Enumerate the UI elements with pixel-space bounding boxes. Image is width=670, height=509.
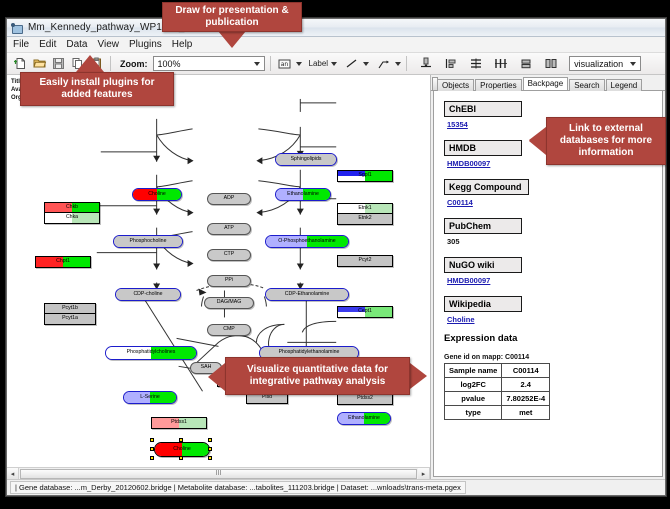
node-chpt1[interactable]: Chpt1 <box>35 256 91 268</box>
table-row: log2FC 2.4 <box>445 378 550 392</box>
node-dag-mag[interactable]: DAG/MAG <box>204 297 254 309</box>
node-sphingolipids[interactable]: Sphingolipids <box>275 153 337 166</box>
chevron-down-icon[interactable] <box>331 62 337 66</box>
table-row: type met <box>445 406 550 420</box>
node-label: CDP-Ethanolamine <box>285 292 329 297</box>
chevron-down-icon[interactable] <box>296 62 302 66</box>
visualization-combobox[interactable]: visualization <box>569 56 641 71</box>
db-header-nugo-wiki: NuGO wiki <box>444 257 522 273</box>
node-pcyt2[interactable]: Pcyt2 <box>337 255 393 267</box>
expr-value: met <box>502 406 550 420</box>
scroll-left-icon[interactable]: ◂ <box>7 468 19 479</box>
tab-properties[interactable]: Properties <box>475 79 521 91</box>
tab-objects[interactable]: Objects <box>437 79 474 91</box>
callout-draw-arrow-icon <box>218 31 246 48</box>
node-pcyt1a[interactable]: Pcyt1a <box>44 314 96 325</box>
db-link-kegg-compound[interactable]: C00114 <box>447 198 662 207</box>
node-label: Etnk1 <box>358 206 371 211</box>
pathvisio-icon <box>11 22 23 34</box>
node-ethanolamine-right[interactable]: Ethanolamine <box>337 412 391 425</box>
callout-visualize-text: Visualize quantitative data for integrat… <box>230 364 405 388</box>
line-icon[interactable] <box>343 55 360 72</box>
window-titlebar: Mm_Kennedy_pathway_WP1771_45176.gpml <box>7 19 665 37</box>
chevron-down-icon[interactable] <box>363 62 369 66</box>
node-adp[interactable]: ADP <box>207 193 251 205</box>
zoom-combobox[interactable]: 100% <box>153 56 265 71</box>
callout-plugins-arrow-icon <box>76 55 104 72</box>
node-label: Pisd <box>262 395 272 400</box>
selection-handle[interactable] <box>179 456 183 460</box>
menu-data[interactable]: Data <box>65 39 88 50</box>
node-label: ADP <box>224 196 235 201</box>
node-label: CMP <box>223 327 235 332</box>
selection-handle[interactable] <box>150 456 154 460</box>
node-label: CDP-choline <box>133 292 162 297</box>
expression-data-table: Sample name C00114 log2FC 2.4 pvalue 7.8… <box>444 363 550 420</box>
node-etnk2[interactable]: Etnk2 <box>337 214 393 225</box>
align-left-icon[interactable] <box>442 55 459 72</box>
db-header-wikipedia: Wikipedia <box>444 296 522 312</box>
callout-link-text: Link to external databases for more info… <box>551 123 661 158</box>
db-header-chebi: ChEBI <box>444 101 522 117</box>
expr-key: Sample name <box>445 364 502 378</box>
callout-link: Link to external databases for more info… <box>546 117 666 165</box>
callout-plugins-text: Easily install plugins for added feature… <box>25 77 169 101</box>
common-height-icon[interactable] <box>542 55 559 72</box>
node-cdp-ethanolamine[interactable]: CDP-Ethanolamine <box>265 288 349 301</box>
scrollbar-thumb[interactable]: III <box>20 469 417 479</box>
node-label: Chkb <box>66 205 78 210</box>
tab-backpage[interactable]: Backpage <box>523 77 569 90</box>
node-label: Sgpl1 <box>358 173 371 178</box>
node-label: Phosphocholine <box>130 239 167 244</box>
statusbar: | Gene database: ...m_Derby_20120602.bri… <box>7 479 665 495</box>
expr-key: pvalue <box>445 392 502 406</box>
toolbar-separator <box>270 56 271 71</box>
node-label: Phosphatidylcholines <box>127 350 176 355</box>
node-label: Phosphatidylethanolamine <box>279 350 340 355</box>
node-ethanolamine[interactable]: Ethanolamine <box>275 188 331 201</box>
screenshot-root: Mm_Kennedy_pathway_WP1771_45176.gpml Fil… <box>0 0 670 509</box>
node-cept1[interactable]: Cept1 <box>337 306 393 318</box>
node-cdp-choline[interactable]: CDP-choline <box>115 288 181 301</box>
expr-value: 7.80252E-4 <box>502 392 550 406</box>
node-pcyt1b[interactable]: Pcyt1b <box>44 303 96 314</box>
node-label: PPi <box>225 278 233 283</box>
node-label: L-Serine <box>140 395 160 400</box>
node-label: ATP <box>224 226 234 231</box>
chevron-down-icon <box>630 62 636 66</box>
statusbar-text: | Gene database: ...m_Derby_20120602.bri… <box>10 481 466 494</box>
scroll-right-icon[interactable]: ▸ <box>418 468 430 479</box>
expr-key: log2FC <box>445 378 502 392</box>
node-label: Chpt1 <box>56 259 70 264</box>
callout-link-arrow-icon <box>529 127 546 155</box>
expr-key: type <box>445 406 502 420</box>
callout-visualize-arrow-right-icon <box>410 363 427 389</box>
selection-handle[interactable] <box>179 438 183 442</box>
stack-vertical-icon[interactable] <box>467 55 484 72</box>
chevron-down-icon <box>254 62 260 66</box>
db-value-pubchem: 305 <box>447 237 662 246</box>
align-bottom-icon[interactable] <box>417 55 434 72</box>
menu-help[interactable]: Help <box>171 39 194 50</box>
node-label: Chka <box>66 215 78 220</box>
gene-id-on-mapp: Gene id on mapp: C00114 <box>444 354 662 361</box>
node-label: Etnk2 <box>358 216 371 221</box>
node-l-serine-left[interactable]: L-Serine <box>123 391 177 404</box>
selection-handle[interactable] <box>150 447 154 451</box>
node-phosphatidylcholines[interactable]: Phosphatidylcholines <box>105 346 197 360</box>
node-phosphocholine[interactable]: Phosphocholine <box>113 235 183 248</box>
selection-handle[interactable] <box>208 438 212 442</box>
visualization-value: visualization <box>574 59 623 69</box>
node-choline-selected[interactable]: Choline <box>154 442 210 457</box>
zoom-label: Zoom: <box>120 59 148 69</box>
callout-draw-text: Draw for presentation & publication <box>167 5 297 29</box>
node-chkb[interactable]: Chkb <box>44 202 100 213</box>
toolbar-separator <box>110 56 111 71</box>
new-file-icon[interactable] <box>12 55 29 72</box>
node-label: Ptdss1 <box>171 420 187 425</box>
node-sgpl1[interactable]: Sgpl1 <box>337 170 393 182</box>
node-label: DAG/MAG <box>217 300 242 305</box>
db-header-hmdb: HMDB <box>444 140 522 156</box>
db-link-nugo-wiki[interactable]: HMDB00097 <box>447 276 662 285</box>
db-header-kegg-compound: Kegg Compound <box>444 179 529 195</box>
node-etnk1[interactable]: Etnk1 <box>337 203 393 214</box>
node-label: Choline <box>173 447 191 452</box>
menu-view[interactable]: View <box>96 39 120 50</box>
open-file-icon[interactable] <box>31 55 48 72</box>
node-atp[interactable]: ATP <box>207 223 251 235</box>
selection-handle[interactable] <box>208 456 212 460</box>
node-label: CTP <box>224 252 234 257</box>
canvas-horizontal-scrollbar[interactable]: ◂ III ▸ <box>7 467 430 479</box>
table-row: Sample name C00114 <box>445 364 550 378</box>
svg-text:an: an <box>280 61 288 68</box>
expression-data-title: Expression data <box>444 333 662 344</box>
save-file-icon[interactable] <box>50 55 67 72</box>
table-row: pvalue 7.80252E-4 <box>445 392 550 406</box>
pathway-canvas[interactable]: Title: Availa Organi <box>7 75 431 479</box>
node-label: Choline <box>148 192 166 197</box>
selection-handle[interactable] <box>150 438 154 442</box>
node-label: Ethanolamine <box>287 192 319 197</box>
db-link-wikipedia[interactable]: Choline <box>447 315 662 324</box>
node-label: Cept1 <box>358 309 372 314</box>
side-panel-tabstrip: Objects Properties Backpage Search Legen… <box>431 75 665 91</box>
node-label: Pcyt1a <box>62 316 78 321</box>
node-label: Sphingolipids <box>291 157 322 162</box>
toolbar-separator <box>406 56 407 71</box>
expr-value: 2.4 <box>502 378 550 392</box>
datanode-icon[interactable]: an <box>276 55 293 72</box>
callout-plugins: Easily install plugins for added feature… <box>20 72 174 106</box>
label-button[interactable]: Label <box>309 59 329 68</box>
selection-handle[interactable] <box>208 447 212 451</box>
expr-value: C00114 <box>502 364 550 378</box>
chevron-down-icon[interactable] <box>395 62 401 66</box>
node-ppi[interactable]: PPi <box>207 275 251 287</box>
node-label: Ptdss2 <box>357 396 373 401</box>
callout-draw: Draw for presentation & publication <box>162 2 302 32</box>
node-ctp[interactable]: CTP <box>207 249 251 261</box>
node-cmp[interactable]: CMP <box>207 324 251 336</box>
node-label: Pcyt2 <box>359 258 372 263</box>
menubar: File Edit Data View Plugins Help <box>7 37 665 53</box>
node-ptdss1[interactable]: Ptdss1 <box>151 417 207 429</box>
node-label: O-Phosphoethanolamine <box>278 239 335 244</box>
callout-visualize: Visualize quantitative data for integrat… <box>225 357 410 395</box>
node-label: Pcyt1b <box>62 306 78 311</box>
zoom-value: 100% <box>158 59 181 69</box>
node-o-phosphoethanolamine[interactable]: O-Phosphoethanolamine <box>265 235 349 248</box>
distribute-horizontal-icon[interactable] <box>492 55 509 72</box>
interaction-icon[interactable] <box>375 55 392 72</box>
tab-legend[interactable]: Legend <box>606 79 643 91</box>
menu-file[interactable]: File <box>12 39 30 50</box>
tab-search[interactable]: Search <box>569 79 604 91</box>
node-choline-top[interactable]: Choline <box>132 188 182 201</box>
callout-visualize-arrow-icon <box>208 363 225 391</box>
node-chka[interactable]: Chka <box>44 213 100 224</box>
menu-edit[interactable]: Edit <box>38 39 57 50</box>
db-header-pubchem: PubChem <box>444 218 522 234</box>
common-width-icon[interactable] <box>517 55 534 72</box>
node-label: Ethanolamine <box>348 416 380 421</box>
menu-plugins[interactable]: Plugins <box>128 39 163 50</box>
